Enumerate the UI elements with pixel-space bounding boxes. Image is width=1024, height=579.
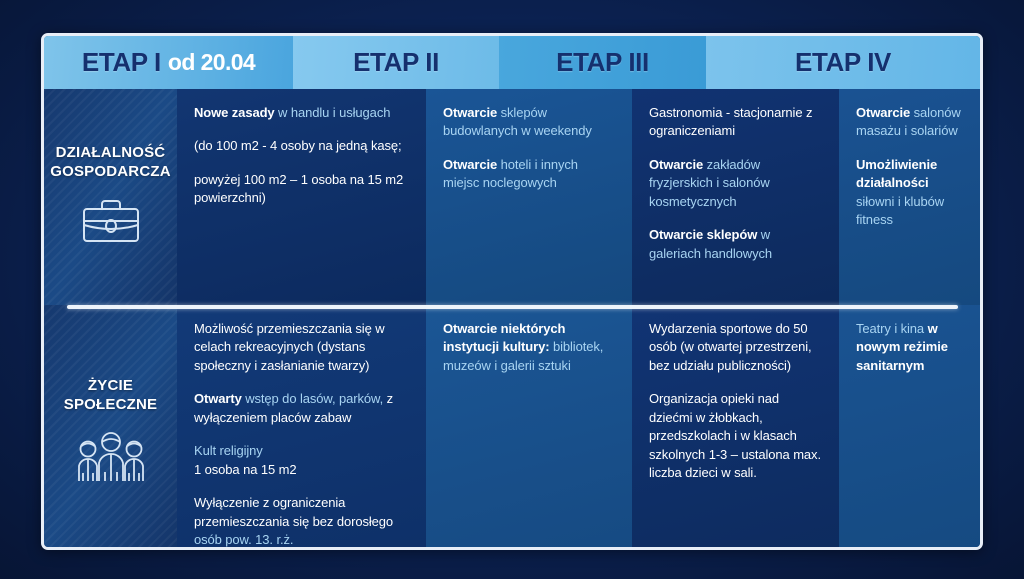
category-label-line1: DZIAŁALNOŚĆ xyxy=(50,144,171,163)
cell-social-etap2: Otwarcie niektórych instytucji kultury: … xyxy=(426,305,632,550)
cell-business-etap4: Otwarcie salonów masażu i solariów Umożl… xyxy=(839,89,980,305)
body-text-2: osób pow. 13. r.ż. xyxy=(194,532,293,547)
category-label-text: DZIAŁALNOŚĆ GOSPODARCZA xyxy=(50,144,171,182)
text-block: (do 100 m2 - 4 osoby na jedną kasę; xyxy=(194,137,408,155)
briefcase-icon xyxy=(80,195,142,250)
text-block: Organizacja opieki nad dziećmi w żłobkac… xyxy=(649,390,821,482)
text-block: Możliwość przemieszczania się w celach r… xyxy=(194,320,408,375)
stage-title: ETAP III xyxy=(556,47,649,78)
text-block: Otwarcie hoteli i innych miejsc noclegow… xyxy=(443,156,614,193)
body-text: wstęp do lasów, parków, xyxy=(242,391,383,406)
row-divider xyxy=(67,305,958,309)
cell-social-etap1: Możliwość przemieszczania się w celach r… xyxy=(177,305,426,550)
body-text: Kult religijny xyxy=(194,442,408,460)
cell-social-etap4: Teatry i kina w nowym reżimie sanitarnym xyxy=(839,305,980,550)
text-block: Otwarcie zakładów fryzjerskich i salonów… xyxy=(649,156,821,211)
cell-business-etap3: Gastronomia - stacjonarnie z ograniczeni… xyxy=(632,89,839,305)
highlight-text: Otwarty xyxy=(194,391,242,406)
cell-social-etap3: Wydarzenia sportowe do 50 osób (w otwart… xyxy=(632,305,839,550)
row-social-life: ŻYCIE SPOŁECZNE xyxy=(44,305,980,550)
text-block: Gastronomia - stacjonarnie z ograniczeni… xyxy=(649,104,821,141)
text-block: Otwarcie sklepów budowlanych w weekendy xyxy=(443,104,614,141)
body-text: powyżej 100 m2 – 1 osoba na 15 m2 powier… xyxy=(194,172,403,205)
text-block: Wydarzenia sportowe do 50 osób (w otwart… xyxy=(649,320,821,375)
category-label-social: ŻYCIE SPOŁECZNE xyxy=(44,305,177,550)
row-business-activity: DZIAŁALNOŚĆ GOSPODARCZA xyxy=(44,89,980,305)
category-label-line2: SPOŁECZNE xyxy=(64,396,157,415)
body-text: w handlu i usługach xyxy=(275,105,391,120)
highlight-text: Otwarcie sklepów xyxy=(649,227,757,242)
text-block: Otwarty wstęp do lasów, parków, z wyłącz… xyxy=(194,390,408,427)
category-label-business: DZIAŁALNOŚĆ GOSPODARCZA xyxy=(44,89,177,305)
highlight-text: Otwarcie xyxy=(856,105,910,120)
body-text: Teatry i kina xyxy=(856,321,924,336)
text-block: Teatry i kina w nowym reżimie sanitarnym xyxy=(856,320,962,375)
body-text: Wyłączenie z ograniczenia przemieszczani… xyxy=(194,495,393,528)
stage-title: ETAP I xyxy=(82,47,161,78)
text-block: Otwarcie sklepów w galeriach handlowych xyxy=(649,226,821,263)
text-block: Umożliwienie działalności siłowni i klub… xyxy=(856,156,962,230)
cell-business-etap1: Nowe zasady w handlu i usługach (do 100 … xyxy=(177,89,426,305)
body-text: Możliwość przemieszczania się w celach r… xyxy=(194,321,385,373)
body-text: Wydarzenia sportowe do 50 osób (w otwart… xyxy=(649,321,812,373)
text-block: Wyłączenie z ograniczenia przemieszczani… xyxy=(194,494,408,549)
stage-date: od 20.04 xyxy=(168,49,255,76)
body-text: Gastronomia - stacjonarnie z ograniczeni… xyxy=(649,105,812,138)
stage-header-etap-4: ETAP IV xyxy=(706,36,980,89)
category-label-line1: ŻYCIE xyxy=(64,377,157,396)
highlight-text: Otwarcie xyxy=(443,157,497,172)
body-text: siłowni i klubów fitness xyxy=(856,194,944,227)
body-text: (do 100 m2 - 4 osoby na jedną kasę; xyxy=(194,138,402,153)
people-group-icon xyxy=(72,429,150,488)
text-block: powyżej 100 m2 – 1 osoba na 15 m2 powier… xyxy=(194,171,408,208)
category-label-line2: GOSPODARCZA xyxy=(50,163,171,182)
stage-title: ETAP II xyxy=(353,47,439,78)
text-block: Otwarcie niektórych instytucji kultury: … xyxy=(443,320,614,375)
text-block: Kult religijny 1 osoba na 15 m2 xyxy=(194,442,408,479)
stage-header-row: ETAP I od 20.04 ETAP II ETAP III ETAP IV xyxy=(44,36,980,89)
highlight-text: Otwarcie xyxy=(649,157,703,172)
body-text-2: 1 osoba na 15 m2 xyxy=(194,461,408,479)
highlight-text: Otwarcie xyxy=(443,105,497,120)
stage-header-etap-3: ETAP III xyxy=(499,36,706,89)
highlight-text: Umożliwienie działalności xyxy=(856,157,937,190)
stage-header-etap-2: ETAP II xyxy=(293,36,499,89)
category-label-text: ŻYCIE SPOŁECZNE xyxy=(64,377,157,415)
highlight-text: Otwarcie niektórych instytucji kultury: xyxy=(443,321,565,354)
body-text: Organizacja opieki nad dziećmi w żłobkac… xyxy=(649,391,821,480)
cell-business-etap2: Otwarcie sklepów budowlanych w weekendy … xyxy=(426,89,632,305)
text-block: Nowe zasady w handlu i usługach xyxy=(194,104,408,122)
highlight-text: Nowe zasady xyxy=(194,105,275,120)
infographic-card: ETAP I od 20.04 ETAP II ETAP III ETAP IV… xyxy=(41,33,983,550)
stage-header-etap-1: ETAP I od 20.04 xyxy=(44,36,293,89)
text-block: Otwarcie salonów masażu i solariów xyxy=(856,104,962,141)
stage-title: ETAP IV xyxy=(795,47,891,78)
